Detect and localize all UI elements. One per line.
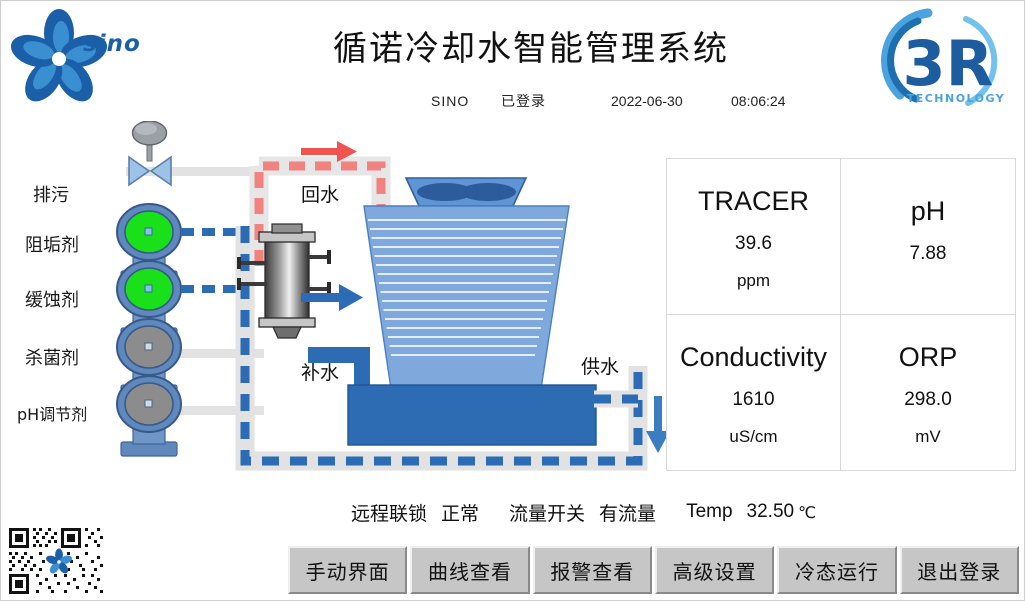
status-bar: 远程联锁 正常 流量开关 有流量 Temp 32.50 ℃ [351,497,1016,527]
label-supply-water: 供水 [581,356,619,378]
temperature-unit: ℃ [798,503,816,522]
measurement-name: TRACER [698,186,809,217]
measurement-name: ORP [899,342,958,373]
button-logout[interactable]: 退出登录 [900,546,1019,594]
remote-interlock-value: 正常 [441,499,479,526]
measurement-name: Conductivity [680,342,827,373]
flow-switch-label: 流量开关 [509,499,585,526]
measurement-panel: TRACER 39.6 ppm pH 7.88 Conductivity 161… [666,158,1016,471]
remote-interlock-label: 远程联锁 [351,499,427,526]
flow-switch-value: 有流量 [599,499,656,526]
measurement-card-ph: pH 7.88 [841,159,1015,315]
process-schematic: 回水 [1,121,671,481]
tower-body [364,206,569,389]
measurement-card-conductivity: Conductivity 1610 uS/cm [667,315,841,471]
tower-basin [348,385,596,445]
sino-logo: sino [9,7,141,111]
measurement-unit: mV [915,427,941,447]
button-alarm-view[interactable]: 报警查看 [533,546,652,594]
system-date: 2022-06-30 [611,93,731,109]
measurement-value: 7.88 [910,243,947,265]
sino-wordmark: sino [83,31,141,57]
label-return-water: 回水 [301,184,339,206]
system-time: 08:06:24 [731,93,841,109]
brand-logo-3r: 3R TECHNOLOGY [870,3,1020,115]
button-advanced-settings[interactable]: 高级设置 [655,546,774,594]
makeup-stub-down [354,347,370,385]
button-trend-view[interactable]: 曲线查看 [410,546,529,594]
measurement-unit: ppm [737,271,770,291]
dosing-pump-ph-adjuster [117,376,181,456]
hmi-screen: sino 循诺冷却水智能管理系统 SINO 已登录 2022-06-30 08:… [0,0,1025,601]
measurement-name: pH [911,196,946,227]
bottom-button-bar: 手动界面 曲线查看 报警查看 高级设置 冷态运行 退出登录 [288,546,1019,594]
temperature-label: Temp [686,501,732,523]
measurement-card-orp: ORP 298.0 mV [841,315,1015,471]
qr-code [5,526,113,598]
label-makeup-water: 补水 [301,362,339,384]
button-cold-start-run[interactable]: 冷态运行 [777,546,896,594]
measurement-value: 298.0 [904,389,952,411]
measurement-value: 1610 [732,389,774,411]
temperature-value: 32.50 [747,501,795,523]
cooling-tower [348,178,596,445]
measurement-unit: uS/cm [729,427,777,447]
login-status: 已登录 [501,91,611,111]
measurement-value: 39.6 [735,233,772,255]
page-title: 循诺冷却水智能管理系统 [301,21,761,70]
brand-technology-text: TECHNOLOGY [907,92,1006,105]
current-user: SINO [431,93,501,109]
brand-3r-text: 3R [903,27,994,100]
fan-blade-right [460,183,516,201]
measurement-card-tracer: TRACER 39.6 ppm [667,159,841,315]
button-manual-interface[interactable]: 手动界面 [288,546,407,594]
